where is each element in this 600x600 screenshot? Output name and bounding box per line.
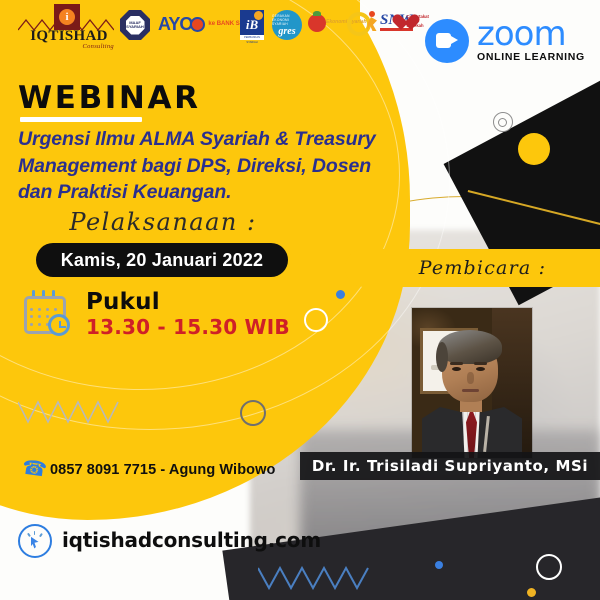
speaker-hair-side bbox=[436, 342, 448, 372]
schedule-date: Kamis, 20 Januari 2022 bbox=[61, 250, 264, 271]
calendar-clock-face bbox=[48, 314, 70, 336]
webinar-heading: WEBINAR bbox=[18, 80, 201, 116]
partner-logo-ib: iB PERBANKAN SYARIAH bbox=[240, 10, 264, 40]
ib-sun-icon bbox=[254, 11, 263, 20]
speaker-eye-left bbox=[452, 367, 461, 371]
cursor-glyph bbox=[28, 533, 43, 550]
speaker-nose bbox=[467, 372, 474, 384]
iqtishad-logo: i IQTISHAD Consulting bbox=[18, 4, 114, 56]
octagon-badge-label: MAAF SYARIAH bbox=[126, 16, 145, 35]
webinar-poster: i IQTISHAD Consulting MAAF SYARIAH AYO k… bbox=[0, 0, 600, 600]
speaker-label: Pembicara : bbox=[399, 257, 546, 279]
white-ring-2 bbox=[536, 554, 562, 580]
iqtishad-badge-letter: i bbox=[59, 9, 75, 25]
zigzag-grey bbox=[18, 400, 124, 426]
heart-icon bbox=[396, 13, 406, 31]
time-label: Pukul bbox=[86, 289, 160, 315]
contact-website[interactable]: iqtishadconsulting.com bbox=[62, 528, 321, 552]
blue-dot-1 bbox=[336, 290, 345, 299]
grey-ring-1 bbox=[240, 400, 266, 426]
iqtishad-badge-icon: i bbox=[54, 4, 80, 30]
zigzag-blue bbox=[258, 566, 370, 592]
yellow-dot-small bbox=[527, 588, 536, 597]
zoom-text-group: zoom ONLINE LEARNING bbox=[477, 18, 585, 63]
speaker-mouth bbox=[462, 389, 479, 392]
speaker-brow-right bbox=[474, 362, 487, 365]
iqtishad-tagline: Consulting bbox=[24, 43, 114, 50]
octagon-badge-icon: MAAF SYARIAH bbox=[120, 10, 150, 40]
ring-decoration-2 bbox=[493, 112, 513, 132]
partner-logo-gres: GERAKAN EKONOMI SYARIAH gres bbox=[272, 10, 302, 40]
speaker-name-bar: Dr. Ir. Trisiladi Supriyanto, MSi bbox=[300, 452, 600, 480]
ayo-label: AYO bbox=[158, 14, 192, 35]
blue-dot-2 bbox=[435, 561, 443, 569]
schedule-date-pill: Kamis, 20 Januari 2022 bbox=[36, 243, 288, 277]
gres-circle-icon: GERAKAN EKONOMI SYARIAH gres bbox=[272, 10, 302, 40]
zoom-camera-lens bbox=[451, 36, 458, 44]
calendar-clock-icon bbox=[22, 288, 74, 338]
logo-row: i IQTISHAD Consulting MAAF SYARIAH AYO k… bbox=[0, 0, 420, 56]
gres-sub-label: GERAKAN EKONOMI SYARIAH bbox=[272, 14, 302, 26]
speaker-photo bbox=[412, 308, 532, 458]
zoom-wordmark: zoom bbox=[477, 18, 585, 50]
webinar-title: Urgensi Ilmu ALMA Syariah & Treasury Man… bbox=[18, 126, 410, 206]
zoom-logo: zoom ONLINE LEARNING bbox=[425, 18, 585, 63]
speaker-name: Dr. Ir. Trisiladi Supriyanto, MSi bbox=[312, 457, 588, 475]
yellow-dot-large bbox=[518, 133, 550, 165]
schedule-label: Pelaksanaan : bbox=[28, 208, 298, 236]
ib-box-icon: iB PERBANKAN SYARIAH bbox=[240, 10, 264, 40]
tomato-icon bbox=[308, 14, 326, 32]
webinar-underline bbox=[20, 117, 142, 122]
contact-phone: 0857 8091 7715 - Agung Wibowo bbox=[50, 462, 275, 478]
ayo-circle-icon bbox=[190, 17, 205, 32]
phone-glyph: ☎ bbox=[21, 457, 48, 480]
click-cursor-icon[interactable] bbox=[18, 524, 52, 558]
speaker-brow-left bbox=[450, 362, 463, 365]
speaker-label-pill: Pembicara : bbox=[345, 249, 600, 287]
partner-logo-octagon: MAAF SYARIAH bbox=[120, 10, 150, 40]
phone-icon: ☎ bbox=[22, 459, 42, 481]
time-value: 13.30 - 15.30 WIB bbox=[86, 315, 290, 339]
runner-icon bbox=[366, 10, 380, 34]
white-ring-1 bbox=[304, 308, 328, 332]
zoom-subtitle: ONLINE LEARNING bbox=[477, 51, 585, 63]
ib-sub-label: PERBANKAN SYARIAH bbox=[240, 35, 264, 40]
speaker-eye-right bbox=[476, 367, 485, 371]
zoom-camera-icon bbox=[425, 19, 469, 63]
zoom-camera-body bbox=[436, 33, 451, 48]
gres-label: gres bbox=[278, 26, 295, 37]
zoom-camera-glyph bbox=[436, 33, 458, 48]
